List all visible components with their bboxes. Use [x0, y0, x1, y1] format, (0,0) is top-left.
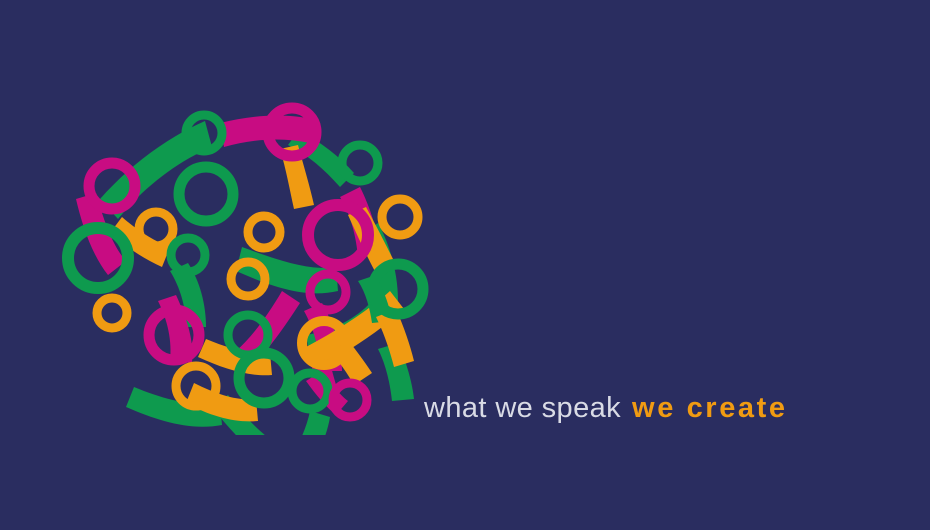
slide-canvas: what we speak we create — [0, 0, 930, 530]
tagline-accent-text: we create — [632, 391, 788, 425]
brain-network-icon — [60, 95, 440, 435]
node-green-top-right — [342, 145, 378, 181]
tagline-light-text: what we speak — [424, 391, 621, 425]
node-orange-center-upper — [248, 216, 280, 248]
link-green-i — [282, 411, 330, 435]
node-green-center-large — [179, 167, 233, 221]
node-orange-right — [382, 199, 418, 235]
tagline: what we speak we create — [424, 391, 788, 425]
node-orange-left-lower — [97, 298, 127, 328]
